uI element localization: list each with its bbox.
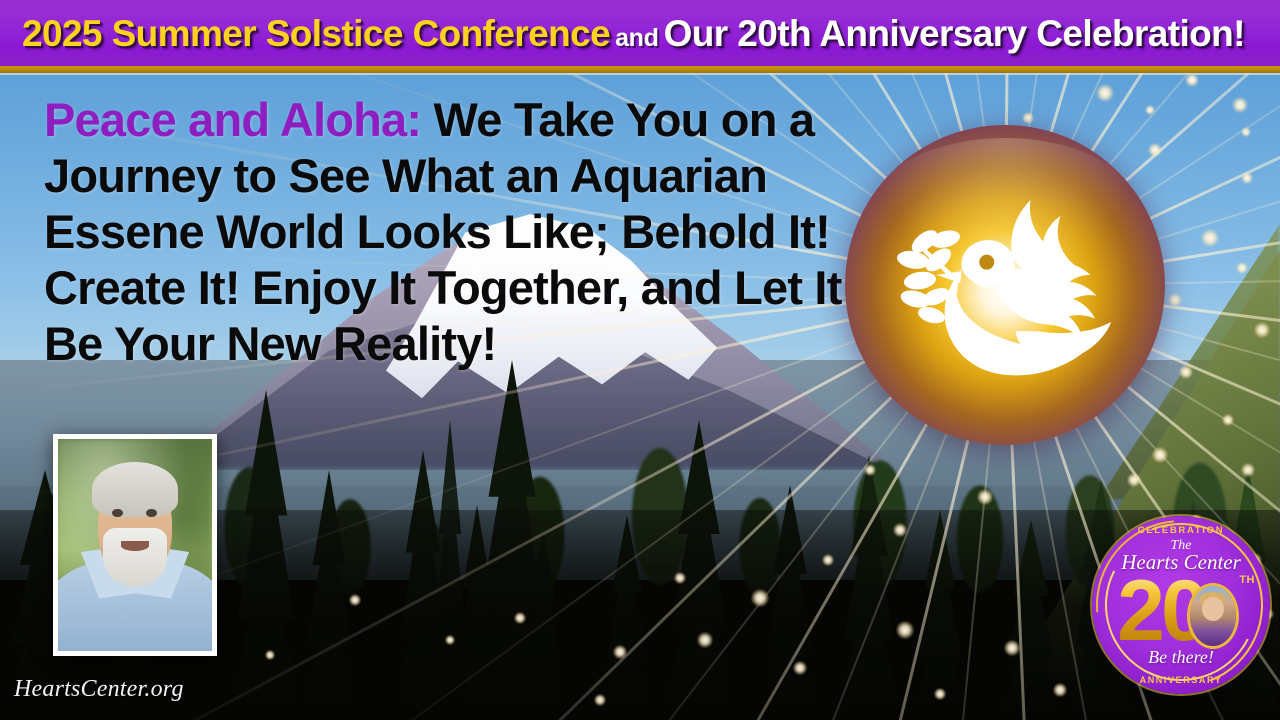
sparkle [1201, 229, 1219, 247]
sparkle [1222, 414, 1234, 426]
sparkle [1185, 73, 1199, 87]
sparkle [265, 650, 275, 660]
website-url[interactable]: HeartsCenter.org [14, 676, 184, 703]
speaker-photo [53, 434, 217, 656]
sparkle [514, 612, 526, 624]
dove-with-olive-branch-icon [874, 170, 1136, 400]
banner-highlight-text: 2025 Summer Solstice Conference [22, 13, 610, 54]
sparkle [1127, 473, 1141, 487]
sparkle [1241, 463, 1255, 477]
sparkle [697, 632, 713, 648]
sparkle [1241, 127, 1251, 137]
speaker-photo-image [58, 439, 212, 651]
badge-portrait-face [1202, 597, 1224, 621]
sparkle [1145, 105, 1155, 115]
sparkle [594, 694, 606, 706]
photo-hair [92, 462, 178, 517]
sparkle [1236, 262, 1248, 274]
banner-hairline [0, 73, 1280, 75]
sparkle [1168, 293, 1182, 307]
badge-top-label: CELEBRATION [1092, 525, 1270, 536]
sparkle [1179, 365, 1193, 379]
sparkle [751, 589, 769, 607]
badge-portrait-icon [1190, 586, 1236, 646]
sparkle [613, 645, 627, 659]
anniversary-badge: CELEBRATION The Hearts Center 20 TH Be t… [1092, 516, 1270, 694]
sparkle [1152, 447, 1168, 463]
badge-bottom-label: ANNIVERSARY [1092, 675, 1270, 685]
banner-conjunction: and [610, 24, 664, 52]
sparkle [1096, 84, 1114, 102]
sparkle [977, 489, 993, 505]
sparkle [1254, 322, 1270, 338]
sparkle [1053, 683, 1067, 697]
sparkle [1022, 112, 1034, 124]
sparkle [793, 661, 807, 675]
dove-emblem [845, 125, 1165, 445]
sparkle [822, 554, 834, 566]
sparkle [1004, 640, 1020, 656]
sparkle [445, 635, 455, 645]
sparkle [1232, 97, 1248, 113]
promo-banner-slide: 2025 Summer Solstice ConferenceandOur 20… [0, 0, 1280, 720]
sparkle [674, 572, 686, 584]
sparkle [1241, 172, 1253, 184]
photo-eye-left [112, 509, 123, 517]
headline-lead: Peace and Aloha: [44, 93, 421, 146]
banner-text-line: 2025 Summer Solstice ConferenceandOur 20… [22, 15, 1245, 52]
sparkle [349, 594, 361, 606]
sparkle [864, 464, 876, 476]
badge-tagline: Be there! [1092, 647, 1270, 668]
sparkle [934, 688, 946, 700]
banner-gold-stripe [0, 66, 1280, 73]
photo-eye-right [146, 509, 157, 517]
badge-disc: CELEBRATION The Hearts Center 20 TH Be t… [1092, 516, 1270, 694]
top-banner: 2025 Summer Solstice ConferenceandOur 20… [0, 0, 1280, 66]
sparkle [896, 621, 914, 639]
badge-ordinal-suffix: TH [1239, 574, 1255, 586]
banner-secondary-text: Our 20th Anniversary Celebration! [664, 13, 1245, 54]
headline: Peace and Aloha: We Take You on a Journe… [44, 92, 874, 372]
sparkle [893, 523, 907, 537]
